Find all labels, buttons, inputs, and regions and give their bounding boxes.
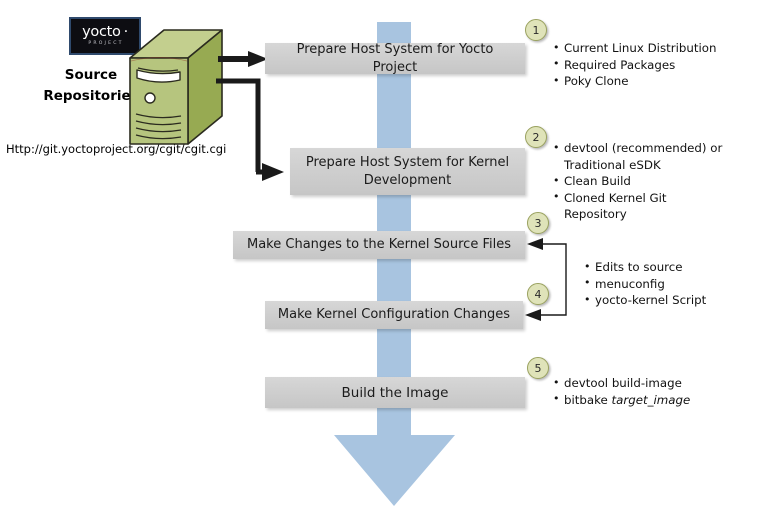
step-box-3-label: Make Changes to the Kernel Source Files <box>247 236 511 254</box>
step-number-badge-1-label: 1 <box>533 24 540 37</box>
step-box-1[interactable]: Prepare Host System for Yocto Project <box>265 43 525 74</box>
step-box-4[interactable]: Make Kernel Configuration Changes <box>265 301 523 329</box>
list-item: Cloned Kernel Git Repository <box>552 190 730 223</box>
step-5-bullets: devtool build-image bitbake target_image <box>552 375 747 408</box>
list-item: Current Linux Distribution <box>552 40 757 57</box>
step-box-2-label-line1: Prepare Host System for Kernel <box>306 154 509 172</box>
step-number-badge-1: 1 <box>525 19 547 41</box>
step-number-badge-3-label: 3 <box>535 217 542 230</box>
connector-server-to-step1 <box>218 51 268 67</box>
list-item: devtool build-image <box>552 375 747 392</box>
yocto-logo-subtitle: PROJECT <box>88 40 123 47</box>
yocto-logo-word: yocto <box>82 24 120 40</box>
step-box-3[interactable]: Make Changes to the Kernel Source Files <box>233 231 525 259</box>
list-item: Poky Clone <box>552 73 757 90</box>
connector-bracket-steps-3-4 <box>525 238 566 321</box>
step-number-badge-3: 3 <box>527 212 549 234</box>
step-number-badge-4-label: 4 <box>535 288 542 301</box>
list-item: menuconfig <box>583 276 758 293</box>
step-box-5[interactable]: Build the Image <box>265 377 525 408</box>
steps-3-4-shared-bullets: Edits to source menuconfig yocto-kernel … <box>583 259 758 309</box>
list-item: Clean Build <box>552 173 730 190</box>
step-2-bullets: devtool (recommended) or Traditional eSD… <box>552 140 730 223</box>
step-number-badge-2: 2 <box>525 126 547 148</box>
step-number-badge-5-label: 5 <box>535 362 542 375</box>
list-item: bitbake target_image <box>552 392 747 409</box>
step-number-badge-2-label: 2 <box>533 131 540 144</box>
step-box-5-label: Build the Image <box>342 384 449 402</box>
step-number-badge-5: 5 <box>527 357 549 379</box>
step-1-bullets: Current Linux Distribution Required Pack… <box>552 40 757 90</box>
list-item: Edits to source <box>583 259 758 276</box>
step-box-1-label: Prepare Host System for Yocto Project <box>273 41 517 77</box>
list-item: yocto-kernel Script <box>583 292 758 309</box>
connector-server-to-step2 <box>216 81 284 181</box>
yocto-logo-wordmark: yocto· <box>82 26 128 39</box>
step-box-4-label: Make Kernel Configuration Changes <box>278 306 510 324</box>
list-item: Required Packages <box>552 57 757 74</box>
server-tower-icon <box>128 28 224 146</box>
step-box-2-label-line2: Development <box>364 172 452 190</box>
list-item-text: bitbake <box>564 393 612 407</box>
step-box-2[interactable]: Prepare Host System for Kernel Developme… <box>290 148 525 195</box>
diagram-canvas: yocto· PROJECT Source Repositories Http:… <box>0 0 769 517</box>
list-item-emphasis: target_image <box>612 393 691 407</box>
step-number-badge-4: 4 <box>527 283 549 305</box>
list-item: devtool (recommended) or Traditional eSD… <box>552 140 730 173</box>
